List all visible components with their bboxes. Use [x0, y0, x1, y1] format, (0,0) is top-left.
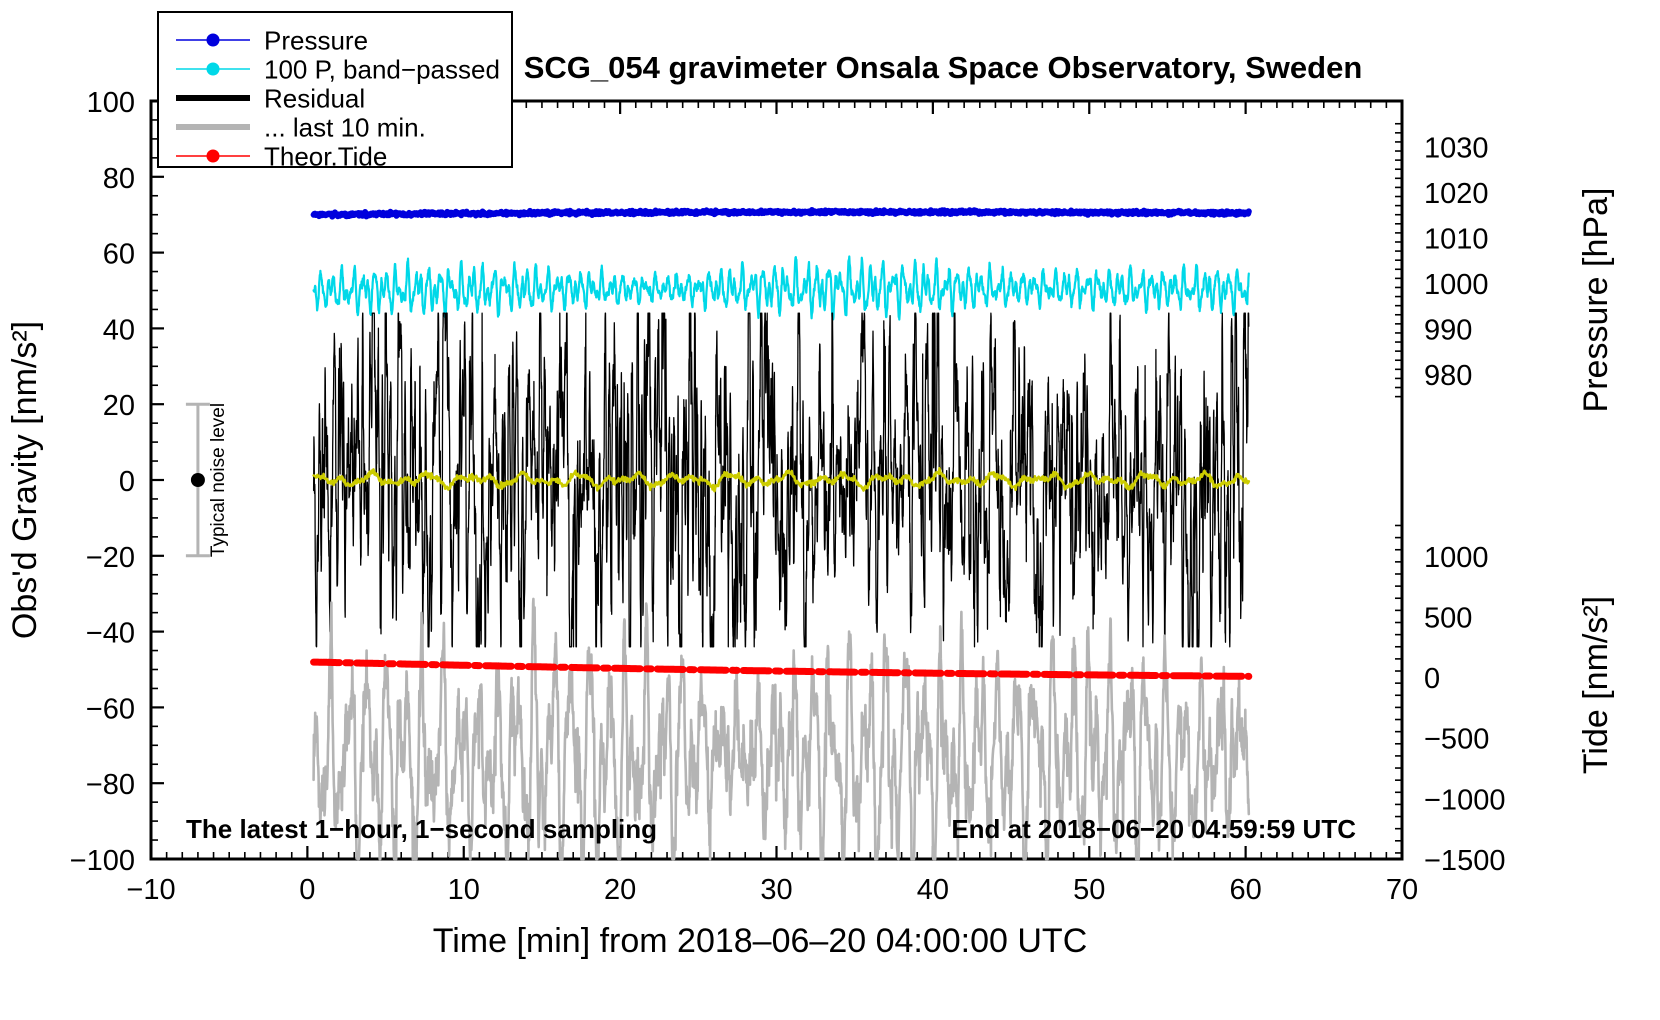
legend-item-label: Theor.Tide — [264, 142, 387, 172]
legend-swatch-dot — [207, 34, 220, 47]
x-tick-label: −10 — [126, 874, 175, 906]
pressure-tick-label: 980 — [1424, 360, 1472, 392]
end-time-note: End at 2018−06−20 04:59:59 UTC — [951, 814, 1356, 844]
gravimeter-timeseries-chart: −10010203040506070 100806040200−20−40−60… — [0, 0, 1660, 1020]
x-tick-label: 70 — [1386, 874, 1418, 906]
pressure-tick-label: 990 — [1424, 314, 1472, 346]
y-tick-label: −100 — [70, 845, 135, 877]
y-tick-label: 0 — [119, 466, 135, 498]
tide-tick-label: −1000 — [1424, 784, 1505, 816]
x-axis-title: Time [min] from 2018–06–20 04:00:00 UTC — [433, 922, 1088, 960]
x-tick-label: 50 — [1073, 874, 1105, 906]
x-tick-label: 20 — [604, 874, 636, 906]
y-tick-label: −20 — [86, 542, 135, 574]
pressure-tick-label: 1030 — [1424, 132, 1489, 164]
chart-legend[interactable]: Pressure100 P, band−passedResidual... la… — [158, 12, 512, 172]
x-tick-label: 30 — [760, 874, 792, 906]
noise-level-label: Typical noise level — [208, 403, 229, 557]
legend-item-label: ... last 10 min. — [264, 113, 426, 143]
sampling-note: The latest 1−hour, 1−second sampling — [186, 814, 657, 844]
pressure-tick-label: 1020 — [1424, 178, 1489, 210]
y-tick-label: 100 — [87, 87, 135, 119]
y-axis-title-pressure: Pressure [hPa] — [1577, 188, 1615, 413]
y-tick-label: −80 — [86, 769, 135, 801]
chart-canvas: −10010203040506070 100806040200−20−40−60… — [0, 0, 1660, 1020]
noise-center-dot — [191, 473, 205, 487]
y-axis-title-tide: Tide [nm/s²] — [1577, 596, 1615, 774]
y-axis-title-left: Obs'd Gravity [nm/s²] — [6, 321, 44, 639]
y-tick-label: 40 — [103, 314, 135, 346]
legend-swatch-dot — [207, 63, 220, 76]
tide-tick-label: −500 — [1424, 724, 1489, 756]
x-tick-label: 10 — [448, 874, 480, 906]
page-title: SCG_054 gravimeter Onsala Space Observat… — [524, 50, 1363, 85]
trace-pressure — [314, 210, 1249, 217]
y-tick-label: −60 — [86, 693, 135, 725]
y-tick-label: −40 — [86, 618, 135, 650]
pressure-tick-label: 1000 — [1424, 269, 1489, 301]
x-tick-label: 0 — [299, 874, 315, 906]
x-tick-label: 40 — [917, 874, 949, 906]
y-tick-label: 80 — [103, 163, 135, 195]
tide-tick-label: −1500 — [1424, 845, 1505, 877]
pressure-tick-label: 1010 — [1424, 223, 1489, 255]
x-tick-label: 60 — [1229, 874, 1261, 906]
legend-item-label: Pressure — [264, 26, 368, 56]
y-tick-label: 20 — [103, 390, 135, 422]
tide-tick-label: 0 — [1424, 663, 1440, 695]
tide-tick-label: 500 — [1424, 602, 1472, 634]
legend-swatch-dot — [207, 150, 220, 163]
y-tick-label: 60 — [103, 239, 135, 271]
legend-item-label: 100 P, band−passed — [264, 55, 500, 85]
legend-item-label: Residual — [264, 84, 365, 114]
tide-tick-label: 1000 — [1424, 542, 1489, 574]
